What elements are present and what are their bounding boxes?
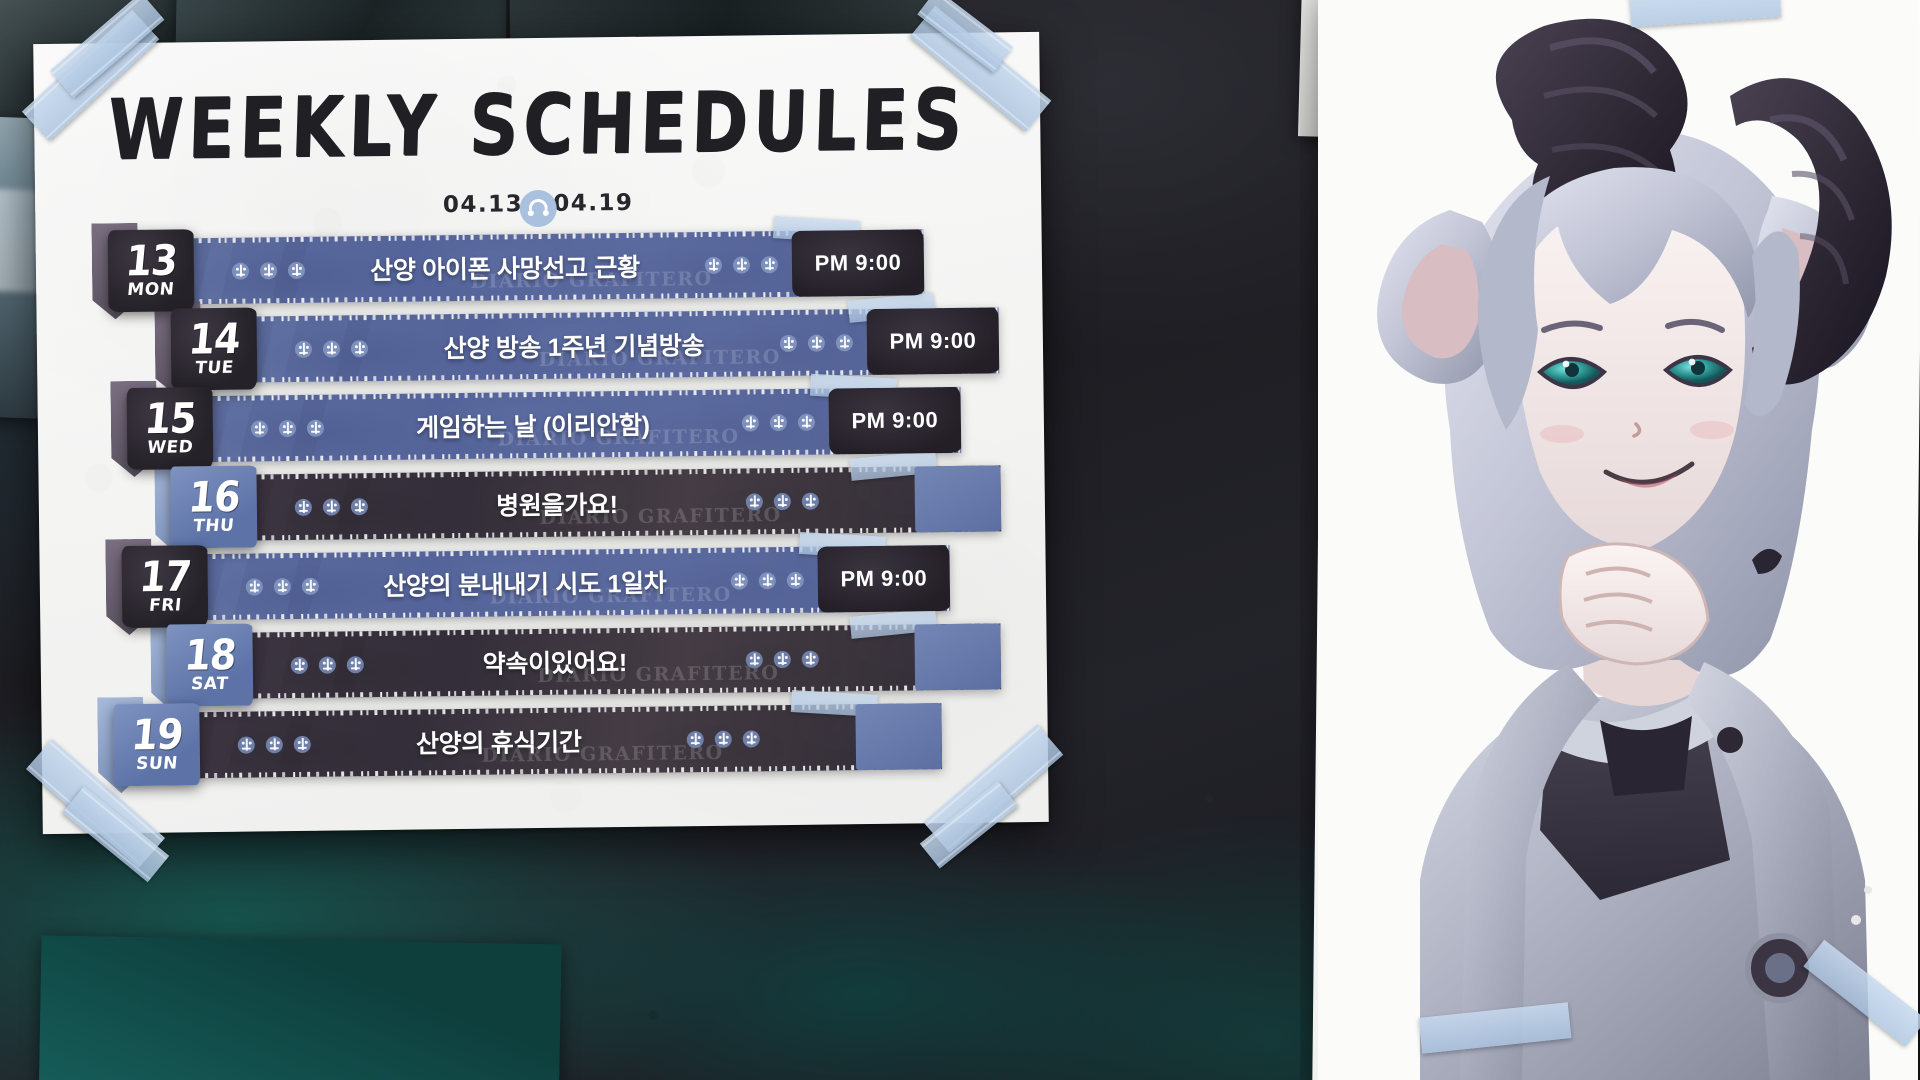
date-weekday-label: SAT (191, 676, 230, 693)
smiley-dot-icon (742, 414, 759, 431)
schedule-row-time: PM 9:00 (828, 387, 961, 455)
row-dots-left (238, 735, 311, 753)
schedule-date-tag[interactable]: 14TUE (170, 307, 257, 390)
smiley-dot-icon (302, 577, 319, 594)
schedule-row-end-block (914, 623, 1001, 690)
date-weekday-label: WED (146, 439, 194, 457)
schedule-date-tag[interactable]: 17FRI (121, 545, 208, 628)
schedule-date-tag[interactable]: 15WED (126, 387, 213, 470)
smiley-dot-icon (774, 492, 791, 509)
smiley-dot-icon (288, 261, 305, 278)
smiley-dot-icon (770, 413, 787, 430)
row-dots-right (746, 492, 819, 510)
schedule-row-bar: DIARIO GRAFITERO산양 방송 1주년 기념방송PM 9:00 (177, 307, 1000, 383)
page-title: WEEKLY SCHEDULES (33, 71, 1042, 180)
row-dots-right (742, 413, 815, 431)
smiley-dot-icon (351, 498, 368, 515)
date-day-number: 18 (182, 635, 237, 675)
smiley-dot-icon (260, 262, 277, 279)
schedule-row-title: 산양의 휴식기간 (311, 721, 687, 762)
smiley-eye-right (543, 210, 549, 216)
date-day-number: 17 (137, 556, 192, 596)
smiley-dot-icon (266, 736, 283, 753)
schedule-row-bar: DIARIO GRAFITERO게임하는 날 (이리안함)PM 9:00 (133, 387, 962, 463)
row-dots-left (251, 419, 324, 437)
smiley-dot-icon (291, 656, 308, 673)
schedule-row[interactable]: DIARIO GRAFITERO병원을가요!16THU (39, 465, 1046, 543)
anime-character-illustration (1300, 0, 1920, 1080)
smiley-dot-icon (251, 420, 268, 437)
smiley-dot-icon (238, 736, 255, 753)
date-day-number: 15 (143, 398, 198, 438)
smiley-dot-icon (780, 334, 797, 351)
schedule-date-tag[interactable]: 13MON (107, 229, 194, 312)
smiley-dot-icon (295, 340, 312, 357)
schedule-row-title: 산양의 분내내기 시도 1일차 (319, 563, 731, 604)
smiley-dot-icon (307, 419, 324, 436)
date-weekday-label: FRI (148, 597, 182, 614)
schedule-poster-card: WEEKLY SCHEDULES 04.13 - 04.19 DIARIO GR… (33, 32, 1049, 834)
smiley-dot-icon (731, 572, 748, 589)
smiley-dot-icon (746, 651, 763, 668)
row-dots-right (687, 730, 760, 748)
date-weekday-label: SUN (135, 755, 178, 773)
smiley-face-icon (520, 190, 557, 227)
row-dots-left (295, 340, 368, 358)
background-photo-fragment (38, 935, 561, 1080)
schedule-row-title: 게임하는 날 (이리안함) (324, 405, 742, 446)
schedule-row-title: 산양 아이폰 사망선고 근황 (305, 247, 705, 288)
schedule-row-time: PM 9:00 (792, 229, 925, 297)
smiley-dot-icon (319, 656, 336, 673)
schedule-row-bar: DIARIO GRAFITERO산양 아이폰 사망선고 근황PM 9:00 (114, 229, 925, 305)
row-dots-left (295, 498, 368, 516)
schedule-row[interactable]: DIARIO GRAFITERO산양의 분내내기 시도 1일차PM 9:0017… (39, 544, 1046, 622)
smiley-dot-icon (351, 340, 368, 357)
schedule-row-title: 병원을가요! (368, 484, 746, 525)
smiley-dot-icon (759, 572, 776, 589)
smiley-dot-icon (798, 413, 815, 430)
smiley-dot-icon (232, 262, 249, 279)
row-dots-right (746, 650, 819, 668)
schedule-date-tag[interactable]: 19SUN (113, 703, 200, 786)
date-day-number: 19 (129, 715, 184, 755)
date-weekday-label: THU (193, 518, 236, 536)
schedule-row[interactable]: DIARIO GRAFITERO산양 아이폰 사망선고 근황PM 9:0013M… (36, 228, 1043, 306)
schedule-date-tag[interactable]: 16THU (170, 465, 257, 548)
smiley-dot-icon (323, 340, 340, 357)
smiley-mouth (529, 199, 548, 210)
date-weekday-label: TUE (194, 360, 234, 377)
smiley-dot-icon (746, 493, 763, 510)
row-dots-right (731, 571, 804, 589)
smiley-dot-icon (274, 578, 291, 595)
smiley-dot-icon (246, 578, 263, 595)
schedule-row[interactable]: DIARIO GRAFITERO약속이있어요!18SAT (40, 623, 1047, 701)
smiley-dot-icon (715, 730, 732, 747)
smiley-dot-icon (761, 256, 778, 273)
date-day-number: 13 (124, 241, 179, 281)
smiley-dot-icon (733, 256, 750, 273)
smiley-eye-left (528, 210, 534, 216)
smiley-dot-icon (323, 498, 340, 515)
schedule-row-bar: DIARIO GRAFITERO산양의 휴식기간 (119, 703, 942, 779)
smiley-dot-icon (279, 419, 296, 436)
smiley-dot-icon (774, 650, 791, 667)
schedule-row-bar: DIARIO GRAFITERO산양의 분내내기 시도 1일차PM 9:00 (127, 545, 950, 621)
smiley-dot-icon (347, 656, 364, 673)
smiley-dot-icon (787, 571, 804, 588)
smiley-dot-icon (295, 498, 312, 515)
schedule-row-end-block (855, 703, 942, 770)
smiley-dot-icon (687, 731, 704, 748)
schedule-date-tag[interactable]: 18SAT (166, 624, 253, 707)
date-day-number: 14 (187, 319, 242, 359)
schedule-row[interactable]: DIARIO GRAFITERO산양 방송 1주년 기념방송PM 9:0014T… (37, 307, 1044, 385)
date-weekday-label: MON (127, 282, 176, 300)
row-dots-right (780, 334, 853, 352)
row-dots-right (705, 256, 778, 274)
character-illustration-panel (1300, 0, 1920, 1080)
schedule-row-title: 산양 방송 1주년 기념방송 (368, 325, 780, 366)
schedule-row[interactable]: DIARIO GRAFITERO산양의 휴식기간19SUN (41, 702, 1048, 780)
schedule-row-time: PM 9:00 (867, 307, 1000, 375)
row-dots-left (291, 656, 364, 674)
date-day-number: 16 (186, 477, 241, 517)
schedule-list: DIARIO GRAFITERO산양 아이폰 사망선고 근황PM 9:0013M… (36, 228, 1049, 793)
schedule-row-title: 약속이있어요! (364, 642, 746, 683)
smiley-dot-icon (808, 334, 825, 351)
smiley-dot-icon (802, 650, 819, 667)
schedule-row[interactable]: DIARIO GRAFITERO게임하는 날 (이리안함)PM 9:0015WE… (38, 386, 1045, 464)
smiley-dot-icon (802, 492, 819, 509)
smiley-dot-icon (705, 256, 722, 273)
row-dots-left (246, 577, 319, 595)
smiley-dot-icon (836, 334, 853, 351)
row-dots-left (232, 261, 305, 279)
smiley-dot-icon (294, 735, 311, 752)
smiley-dot-icon (743, 730, 760, 747)
schedule-row-end-block (914, 465, 1001, 532)
schedule-row-time: PM 9:00 (817, 545, 950, 613)
